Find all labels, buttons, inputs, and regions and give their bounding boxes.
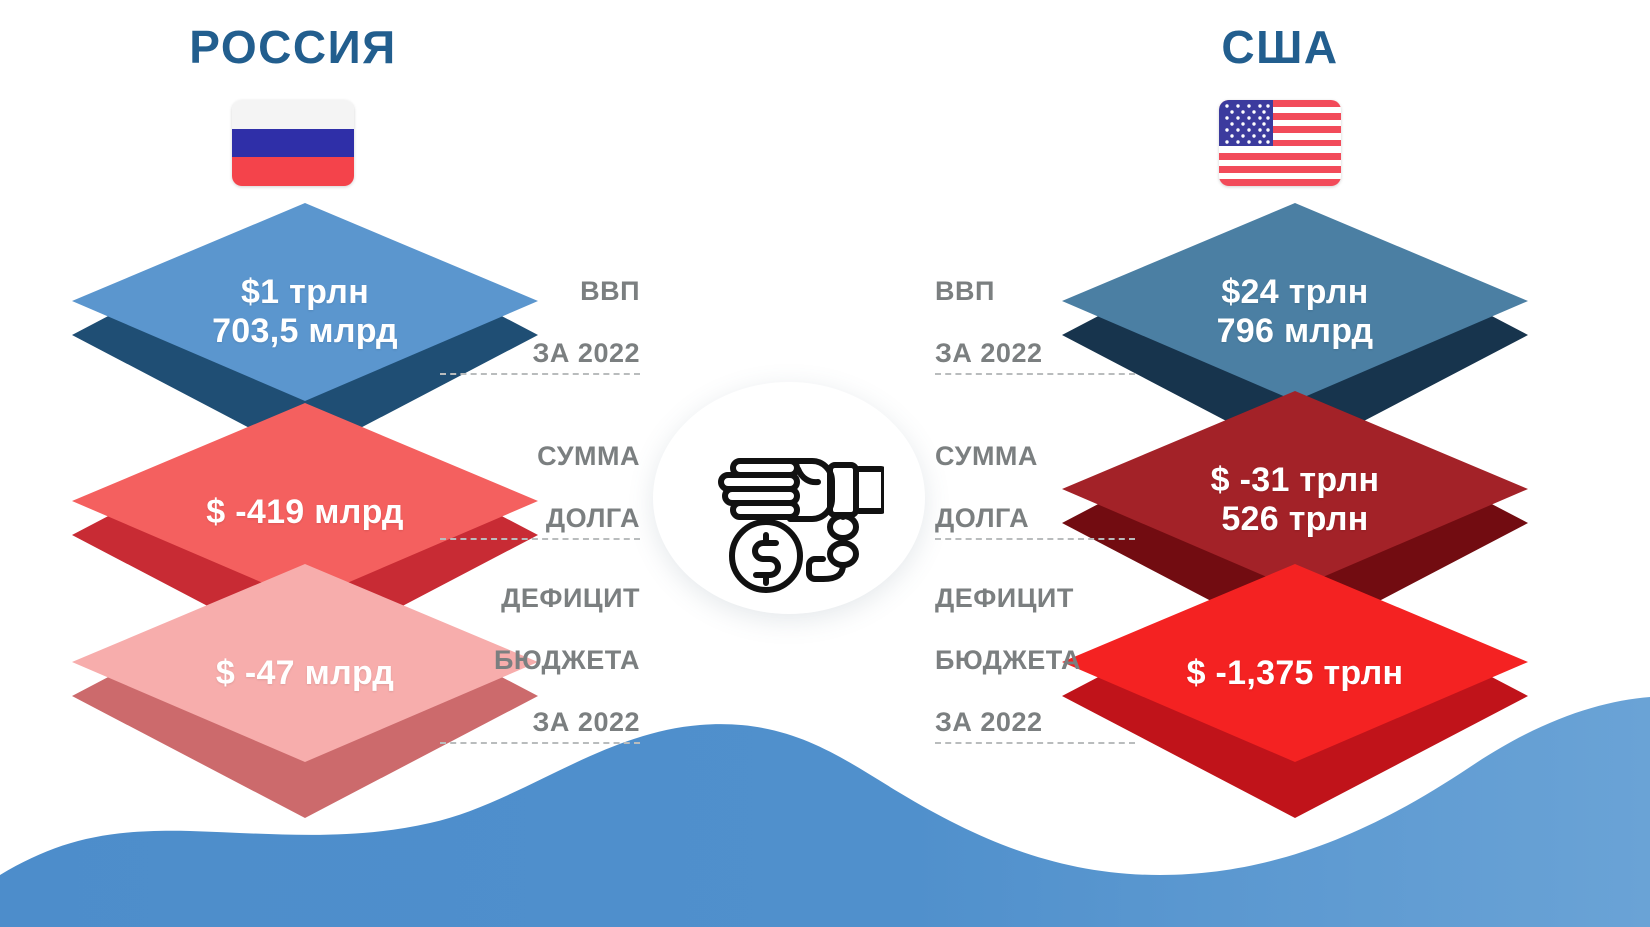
label-russia-deficit-line3: ЗА 2022: [533, 707, 640, 737]
label-russia-gdp-line1: ВВП: [580, 276, 640, 306]
label-usa-gdp: ВВП ЗА 2022: [935, 245, 1135, 375]
label-rule: [935, 538, 1135, 540]
country-header-russia: РОССИЯ: [108, 24, 478, 186]
label-rule: [935, 742, 1135, 744]
label-russia-gdp: ВВП ЗА 2022: [440, 245, 640, 375]
center-icon-badge: [653, 382, 925, 614]
label-usa-debt: СУММА ДОЛГА: [935, 410, 1135, 540]
infographic-canvas: РОССИЯ США: [0, 0, 1650, 927]
label-usa-deficit-line1: ДЕФИЦИТ: [935, 583, 1074, 613]
label-rule: [440, 373, 640, 375]
label-usa-gdp-line2: ЗА 2022: [935, 338, 1042, 368]
handcuffed-hand-with-dollar-ball-icon: [694, 403, 884, 593]
label-rule: [440, 742, 640, 744]
country-title-russia: РОССИЯ: [108, 24, 478, 70]
usa-flag-icon: [1219, 100, 1341, 186]
russia-flag-icon: [232, 100, 354, 186]
labels-usa: ВВП ЗА 2022 СУММА ДОЛГА ДЕФИЦИТ БЮДЖЕТА …: [935, 0, 1145, 830]
label-usa-deficit-line3: ЗА 2022: [935, 707, 1042, 737]
country-header-usa: США: [1095, 24, 1465, 186]
label-rule: [935, 373, 1135, 375]
label-usa-debt-line1: СУММА: [935, 441, 1038, 471]
label-rule: [440, 538, 640, 540]
label-russia-gdp-line2: ЗА 2022: [533, 338, 640, 368]
label-usa-debt-line2: ДОЛГА: [935, 503, 1029, 533]
label-russia-debt-line2: ДОЛГА: [546, 503, 640, 533]
label-usa-deficit-line2: БЮДЖЕТА: [935, 645, 1081, 675]
label-russia-debt-line1: СУММА: [537, 441, 640, 471]
label-usa-gdp-line1: ВВП: [935, 276, 995, 306]
label-russia-deficit-line1: ДЕФИЦИТ: [501, 583, 640, 613]
label-russia-deficit-line2: БЮДЖЕТА: [494, 645, 640, 675]
label-russia-deficit: ДЕФИЦИТ БЮДЖЕТА ЗА 2022: [440, 552, 640, 744]
label-russia-debt: СУММА ДОЛГА: [440, 410, 640, 540]
label-usa-deficit: ДЕФИЦИТ БЮДЖЕТА ЗА 2022: [935, 552, 1135, 744]
labels-russia: ВВП ЗА 2022 СУММА ДОЛГА ДЕФИЦИТ БЮДЖЕТА …: [440, 0, 650, 830]
country-title-usa: США: [1095, 24, 1465, 70]
